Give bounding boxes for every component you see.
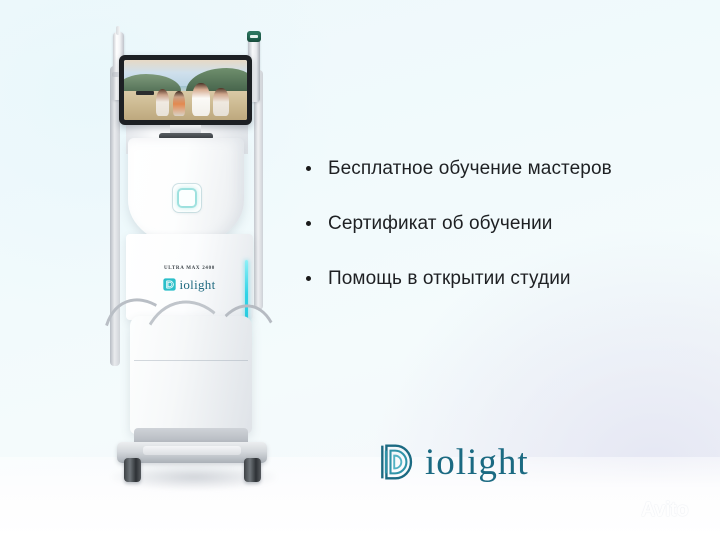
machine-upper-body [128, 138, 244, 246]
machine-emblem-icon [173, 184, 201, 212]
caster-wheel-right [244, 458, 261, 482]
benefit-text: Сертификат об обучении [328, 211, 553, 236]
machine-display [119, 55, 252, 125]
screen-person-2 [173, 91, 185, 116]
avito-dots-icon [617, 502, 637, 519]
machine-brand-word: iolight [179, 278, 215, 291]
iolight-d-monogram-icon [163, 278, 176, 291]
product-image-laser-machine: ULTRA MAX 2400 iolight [104, 28, 284, 490]
machine-post-right [254, 70, 263, 310]
display-screen-content [124, 60, 247, 120]
machine-brand-lockup: iolight [126, 278, 253, 291]
brand-logo: iolight [377, 442, 529, 482]
benefits-list: Бесплатное обучение мастеров Сертификат … [306, 156, 698, 321]
bullet-dot-icon [306, 166, 311, 171]
screen-person-4 [213, 88, 229, 117]
screen-person-3 [192, 83, 210, 117]
list-item: Сертификат об обучении [306, 211, 698, 236]
screen-foreground-object [136, 91, 153, 95]
slide-canvas: ULTRA MAX 2400 iolight [0, 0, 720, 539]
machine-model-label: ULTRA MAX 2400 [126, 266, 253, 271]
screen-sand [124, 91, 247, 120]
handpiece-right-tip [247, 31, 261, 42]
iolight-d-monogram-icon [377, 442, 414, 482]
avito-watermark: Avito [617, 500, 688, 520]
caster-wheel-left [124, 458, 141, 482]
brand-wordmark: iolight [425, 444, 529, 481]
bullet-dot-icon [306, 221, 311, 226]
bullet-dot-icon [306, 276, 311, 281]
list-item: Помощь в открытии студии [306, 266, 698, 291]
list-item: Бесплатное обучение мастеров [306, 156, 698, 181]
benefit-text: Бесплатное обучение мастеров [328, 156, 612, 181]
benefit-text: Помощь в открытии студии [328, 266, 571, 291]
screen-person-1 [156, 89, 170, 117]
avito-label: Avito [641, 500, 688, 520]
